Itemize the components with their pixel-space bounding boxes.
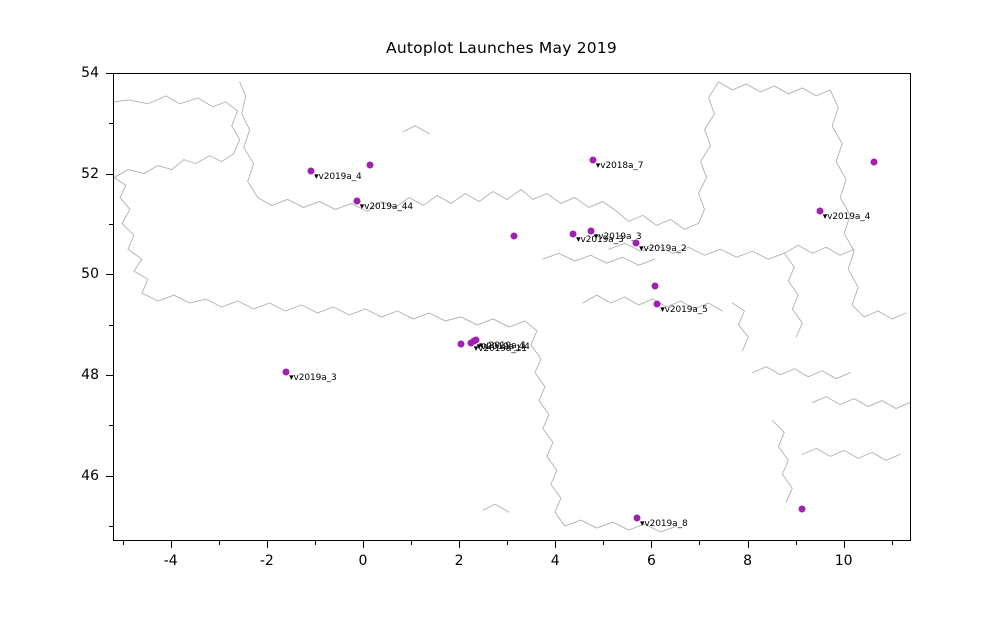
x-axis-minor-tick [507, 541, 508, 545]
x-axis-minor-tick [699, 541, 700, 545]
x-axis-tick [171, 541, 172, 548]
y-axis-minor-tick [109, 526, 113, 527]
x-axis-tick-label: 0 [359, 553, 368, 569]
x-axis-minor-tick [892, 541, 893, 545]
x-axis-tick [363, 541, 364, 548]
x-axis-tick-label: 4 [551, 553, 560, 569]
page-title: Autoplot Launches May 2019 [0, 39, 1003, 57]
y-axis-tick [106, 375, 113, 376]
y-axis-minor-tick [109, 425, 113, 426]
y-axis-tick [106, 274, 113, 275]
x-axis-tick-label: -2 [260, 553, 274, 569]
y-axis-tick [106, 73, 113, 74]
x-axis-minor-tick [219, 541, 220, 545]
x-axis-tick [844, 541, 845, 548]
x-axis-minor-tick [796, 541, 797, 545]
plot-area: ▾v2019a_4▾v2019a_44▾v2018a_7▾v2019a_4▾v2… [113, 73, 911, 541]
x-axis-tick [748, 541, 749, 548]
x-axis-minor-tick [315, 541, 316, 545]
y-axis-minor-tick [109, 325, 113, 326]
y-axis-minor-tick [109, 224, 113, 225]
x-axis-minor-tick [411, 541, 412, 545]
x-axis-tick [555, 541, 556, 548]
y-axis-tick-label: 54 [61, 65, 99, 81]
basemap-coastlines [114, 74, 910, 540]
x-axis-tick [651, 541, 652, 548]
x-axis-tick-label: -4 [164, 553, 178, 569]
x-axis-tick-label: 2 [455, 553, 464, 569]
y-axis-tick-label: 52 [61, 166, 99, 182]
y-axis-tick-label: 48 [61, 367, 99, 383]
x-axis-tick [267, 541, 268, 548]
y-axis-tick-label: 46 [61, 468, 99, 484]
y-axis-tick-label: 50 [61, 266, 99, 282]
x-axis-minor-tick [123, 541, 124, 545]
figure-canvas: Autoplot Launches May 2019 [0, 0, 1003, 633]
x-axis-tick-label: 6 [647, 553, 656, 569]
x-axis-tick-label: 10 [835, 553, 853, 569]
y-axis-minor-tick [109, 123, 113, 124]
x-axis-minor-tick [603, 541, 604, 545]
y-axis-tick [106, 174, 113, 175]
x-axis-tick-label: 8 [743, 553, 752, 569]
y-axis-tick [106, 476, 113, 477]
x-axis-tick [459, 541, 460, 548]
